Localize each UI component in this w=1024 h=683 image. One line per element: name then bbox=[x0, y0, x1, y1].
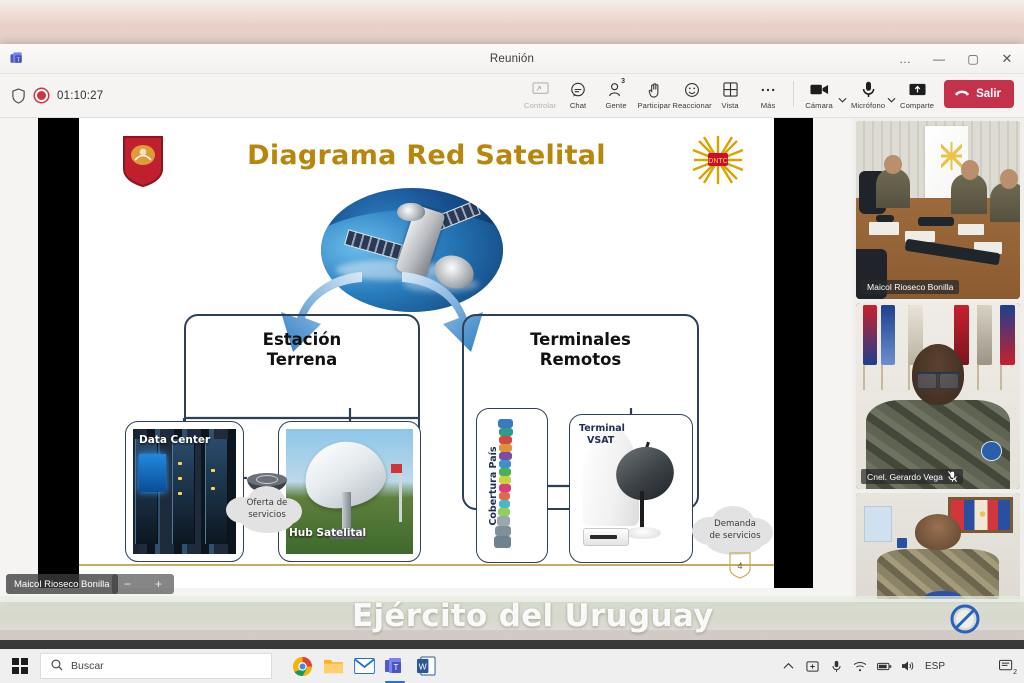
flag-graphic bbox=[391, 464, 402, 473]
participant-tile-3[interactable] bbox=[856, 493, 1020, 599]
share-screen-icon bbox=[909, 80, 926, 99]
camera-chevron-down-icon[interactable] bbox=[838, 79, 849, 113]
light-switch-graphic bbox=[897, 538, 907, 549]
windows-taskbar: Buscar bbox=[0, 649, 1024, 683]
modem-graphic bbox=[583, 528, 628, 545]
participant-roster: Maicol Rioseco Bonilla bbox=[853, 118, 1024, 602]
cloud-demanda-text: Demanda de servicios bbox=[700, 506, 770, 556]
foot-graphic bbox=[625, 527, 662, 539]
system-tray: ESP 2 bbox=[781, 651, 1024, 681]
participant-name-badge: Cnel. Gerardo Vega bbox=[861, 469, 963, 484]
cloud-oferta-line1: Oferta de bbox=[247, 498, 288, 510]
leave-button[interactable]: Salir bbox=[944, 80, 1014, 108]
chair-graphic bbox=[925, 591, 961, 599]
toolbar-label-mas: Más bbox=[761, 101, 776, 110]
window-maximize-button[interactable]: ▢ bbox=[956, 44, 990, 74]
chat-icon bbox=[570, 80, 586, 99]
shared-content-area[interactable]: DNTC Diagrama Red Satelital bbox=[0, 118, 853, 602]
node-label-hub-satelital: Hub Satelital bbox=[289, 527, 366, 539]
svg-text:T: T bbox=[394, 663, 399, 672]
taskbar-pinned-apps: T W bbox=[272, 654, 438, 678]
volume-icon[interactable] bbox=[901, 659, 916, 674]
chevron-up-icon[interactable] bbox=[781, 659, 796, 674]
toolbar-label-participar: Participar bbox=[638, 101, 671, 110]
search-placeholder: Buscar bbox=[71, 660, 104, 672]
toolbar-label-reaccionar: Reaccionar bbox=[672, 101, 711, 110]
windows-start-icon[interactable] bbox=[0, 658, 40, 674]
notification-count: 2 bbox=[1013, 669, 1017, 676]
raise-hand-icon bbox=[647, 80, 662, 99]
participant-tile-2[interactable]: Cnel. Gerardo Vega bbox=[856, 303, 1020, 489]
toolbar-divider bbox=[793, 81, 794, 107]
unit-patch-graphic bbox=[981, 441, 1002, 461]
file-explorer-icon[interactable] bbox=[321, 654, 345, 678]
node-cobertura-pais: Cobertura País bbox=[476, 408, 548, 563]
cloud-oferta-line2: servicios bbox=[248, 510, 286, 522]
presenter-name-pill: Maicol Rioseco Bonilla bbox=[6, 574, 118, 594]
conference-room-video bbox=[856, 121, 1020, 299]
shield-icon bbox=[11, 88, 26, 104]
leave-button-label: Salir bbox=[976, 88, 1001, 100]
cloud-demanda-de-servicios: Demanda de servicios bbox=[700, 506, 770, 556]
microphone-muted-icon bbox=[948, 471, 957, 482]
meeting-actions: Controlar Chat 3 Gente bbox=[521, 78, 1024, 113]
toolbar-item-microfono[interactable]: Micrófono bbox=[849, 78, 887, 113]
meeting-status-group: 01:10:27 bbox=[0, 88, 103, 104]
watermark-text: Ejército del Uruguay bbox=[352, 598, 714, 634]
toolbar-label-comparte: Comparte bbox=[900, 101, 934, 110]
microphone-tray-icon[interactable] bbox=[829, 659, 844, 674]
soldier-video bbox=[856, 493, 1020, 599]
window-more-button[interactable]: … bbox=[888, 44, 922, 74]
server-racks-graphic bbox=[133, 429, 236, 554]
glasses-graphic bbox=[917, 372, 960, 383]
grid-view-icon bbox=[723, 80, 738, 99]
toolbar-item-chat[interactable]: Chat bbox=[559, 78, 597, 113]
head-graphic bbox=[915, 514, 961, 550]
toolbar-item-vista[interactable]: Vista bbox=[711, 78, 749, 113]
window-close-button[interactable]: ✕ bbox=[990, 44, 1024, 74]
window-controls: … — ▢ ✕ bbox=[888, 44, 1024, 74]
toolbar-item-mas[interactable]: Más bbox=[749, 78, 787, 113]
toolbar-label-chat: Chat bbox=[570, 101, 586, 110]
onedrive-icon[interactable] bbox=[805, 659, 820, 674]
participant-name: Maicol Rioseco Bonilla bbox=[867, 282, 953, 292]
no-entry-watermark-icon bbox=[954, 651, 988, 681]
microphone-icon bbox=[862, 80, 875, 99]
toolbar-label-camara: Cámara bbox=[805, 101, 833, 110]
node-data-center: Data Center bbox=[125, 421, 244, 562]
node-label-cobertura-pais: Cobertura País bbox=[488, 446, 499, 525]
window-minimize-button[interactable]: — bbox=[922, 44, 956, 74]
toolbar-item-controlar[interactable]: Controlar bbox=[521, 78, 559, 113]
participant-name: Cnel. Gerardo Vega bbox=[867, 472, 943, 482]
toolbar-item-participar[interactable]: Participar bbox=[635, 78, 673, 113]
vsat-label-line2: VSAT bbox=[587, 435, 614, 447]
word-icon[interactable]: W bbox=[414, 654, 438, 678]
participant-name-badge: Maicol Rioseco Bonilla bbox=[861, 280, 959, 294]
wifi-icon[interactable] bbox=[853, 659, 868, 674]
server-display-graphic bbox=[139, 454, 166, 492]
svg-text:W: W bbox=[418, 661, 427, 671]
toolbar-label-vista: Vista bbox=[721, 101, 738, 110]
screen-control-icon bbox=[532, 80, 549, 99]
vsat-label-line1: Terminal bbox=[579, 423, 625, 434]
meeting-timer: 01:10:27 bbox=[57, 90, 103, 102]
camera-icon bbox=[810, 80, 829, 99]
node-label-data-center: Data Center bbox=[139, 434, 210, 446]
slide-footer-rule bbox=[79, 564, 774, 566]
share-zoom-controls[interactable]: − + bbox=[112, 574, 174, 594]
toolbar-label-microfono: Micrófono bbox=[851, 101, 885, 110]
toolbar-item-comparte[interactable]: Comparte bbox=[898, 78, 936, 113]
slide-number-badge: 4 bbox=[728, 552, 752, 579]
zoom-in-button[interactable]: + bbox=[155, 577, 162, 591]
tripod-graphic bbox=[640, 491, 644, 531]
tray-language[interactable]: ESP bbox=[925, 661, 945, 672]
cloud-demanda-line1: Demanda bbox=[714, 519, 756, 531]
server-racks-image bbox=[133, 429, 236, 554]
notifications-button[interactable]: 2 bbox=[997, 658, 1016, 675]
teams-meeting-window: T Reunión … — ▢ ✕ 01:10:27 bbox=[0, 44, 1024, 602]
cloud-demanda-line2: de servicios bbox=[709, 531, 760, 543]
slide-number: 4 bbox=[737, 561, 742, 571]
mail-icon[interactable] bbox=[352, 654, 376, 678]
meeting-stage: DNTC Diagrama Red Satelital bbox=[0, 118, 1024, 602]
meeting-toolbar: 01:10:27 Controlar Chat bbox=[0, 74, 1024, 118]
zoom-out-button[interactable]: − bbox=[124, 577, 131, 591]
chrome-icon[interactable] bbox=[290, 654, 314, 678]
toolbar-label-controlar: Controlar bbox=[524, 101, 556, 110]
colonel-video bbox=[856, 303, 1020, 489]
army-seal-icon bbox=[950, 604, 980, 634]
battery-icon[interactable] bbox=[877, 659, 892, 674]
window-titlebar: T Reunión … — ▢ ✕ bbox=[0, 44, 1024, 74]
whiteboard-graphic bbox=[864, 506, 892, 542]
people-count-badge: 3 bbox=[621, 78, 625, 85]
recording-dot-icon bbox=[35, 89, 48, 102]
participant-tile-1[interactable]: Maicol Rioseco Bonilla bbox=[856, 121, 1020, 299]
toolbar-label-gente: Gente bbox=[605, 101, 626, 110]
more-dots-icon bbox=[760, 80, 776, 99]
chile-map-image: Cobertura País bbox=[484, 416, 540, 555]
node-terminal-vsat: Terminal VSAT bbox=[569, 414, 693, 563]
search-input[interactable]: Buscar bbox=[40, 653, 272, 679]
emoji-icon bbox=[684, 80, 700, 99]
node-label-terminal-vsat: Terminal VSAT bbox=[579, 423, 625, 447]
toolbar-item-gente[interactable]: 3 Gente bbox=[597, 78, 635, 113]
microphone-chevron-down-icon[interactable] bbox=[887, 79, 898, 113]
toolbar-item-camara[interactable]: Cámara bbox=[800, 78, 838, 113]
toolbar-item-reaccionar[interactable]: Reaccionar bbox=[673, 78, 711, 113]
hangup-icon bbox=[954, 88, 970, 100]
window-title: Reunión bbox=[0, 53, 1024, 65]
teams-icon[interactable]: T bbox=[383, 654, 407, 678]
desktop: T Reunión … — ▢ ✕ 01:10:27 bbox=[0, 0, 1024, 683]
presentation-slide: DNTC Diagrama Red Satelital bbox=[79, 118, 774, 588]
node-hub-satelital: Hub Satelital bbox=[278, 421, 421, 562]
search-icon bbox=[51, 659, 63, 674]
